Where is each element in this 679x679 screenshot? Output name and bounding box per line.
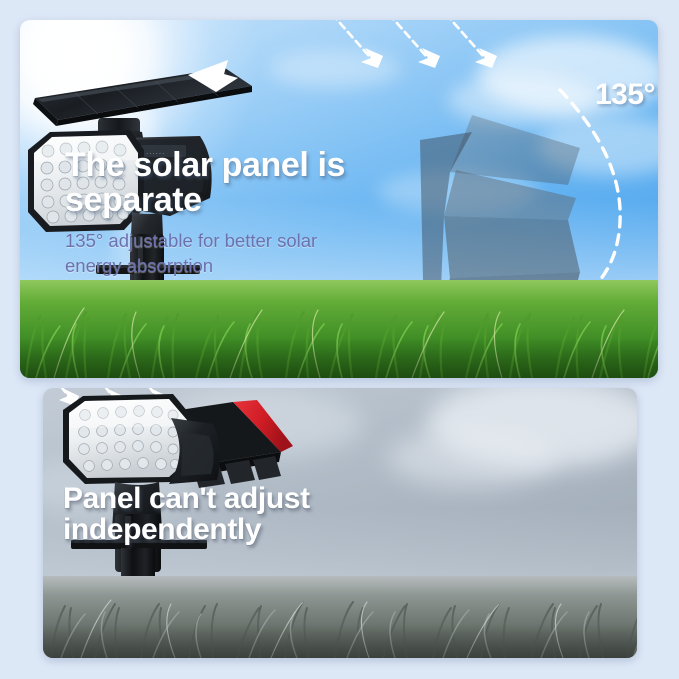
top-panel-subheadline: 135° adjustable for better solar energy … [65, 229, 385, 278]
cloud [163, 388, 363, 458]
cloud [538, 116, 658, 176]
cloud [387, 428, 557, 488]
cloud [270, 50, 400, 88]
comparison-infographic: ...... [0, 0, 679, 679]
green-grass [20, 280, 658, 378]
angle-label: 135° [595, 78, 655, 112]
top-panel-headline: The solar panel is separate [65, 148, 395, 217]
gray-grass [43, 576, 637, 658]
bottom-comparison-panel: Panel can't adjust independently [43, 388, 637, 658]
top-comparison-panel: ...... [20, 20, 658, 378]
bottom-panel-headline: Panel can't adjust independently [63, 484, 383, 545]
cloud [448, 74, 598, 126]
